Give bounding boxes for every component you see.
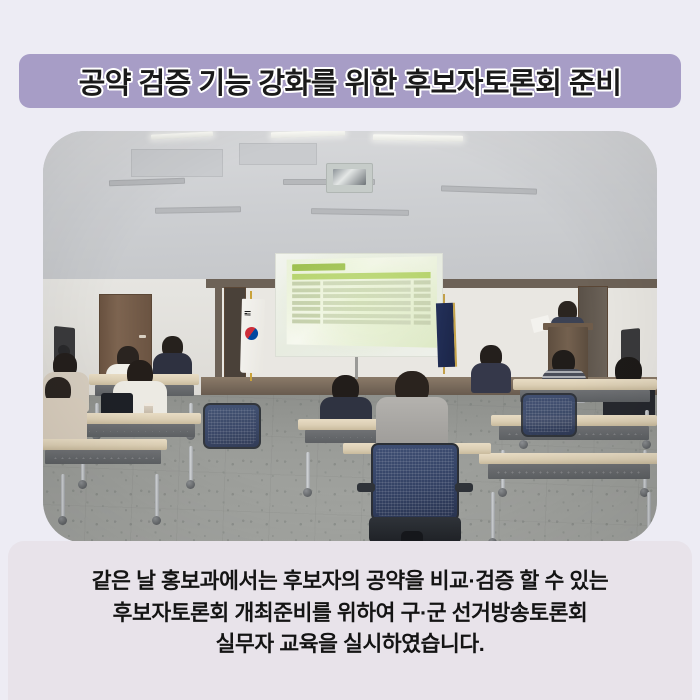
- desk-caster: [58, 516, 67, 525]
- slide-cell: [292, 319, 320, 323]
- chair-armrest: [357, 483, 375, 492]
- desk-modesty-panel: [45, 450, 160, 464]
- attendee-torso: [471, 363, 511, 393]
- office-chair-back: [371, 443, 459, 521]
- desk-leg: [306, 452, 310, 490]
- desk-leg: [61, 474, 65, 518]
- desk-caster: [78, 480, 87, 489]
- slide-table-row: [292, 294, 430, 298]
- slide-table-row: [292, 300, 430, 304]
- desk-top: [73, 413, 201, 424]
- slide-table-row: [292, 319, 430, 324]
- title-banner: 공약 검증 기능 강화를 위한 후보자토론회 준비: [19, 54, 681, 108]
- ceiling-panel: [239, 143, 317, 165]
- slide-cell: [292, 294, 320, 298]
- institution-flag-icon: [436, 303, 457, 368]
- desk-caster: [152, 516, 161, 525]
- chair-mesh: [376, 448, 454, 516]
- slide-cell: [292, 281, 320, 285]
- desk-leg: [647, 492, 651, 540]
- photo-scene: [43, 131, 657, 543]
- slide-cell: [323, 320, 411, 325]
- office-chair-back: [521, 393, 577, 437]
- desk-leg: [189, 446, 193, 482]
- desk-leg: [491, 492, 495, 540]
- slide-table-row: [292, 307, 430, 311]
- desk: [43, 439, 167, 475]
- slide-cell: [292, 313, 320, 317]
- slide-cell: [414, 280, 431, 284]
- office-chair-back: [203, 403, 261, 449]
- desk-modesty-panel: [79, 424, 194, 437]
- slide-cell: [323, 287, 411, 292]
- desk-caster: [303, 488, 312, 497]
- caption-line-2: 후보자토론회 개최준비를 위하여 구·군 선거방송토론회: [113, 598, 588, 630]
- slide-cell: [414, 287, 431, 291]
- desk-top: [43, 439, 167, 450]
- slide-table-row: [292, 313, 430, 318]
- screen-stand: [355, 357, 358, 379]
- desk: [479, 453, 657, 493]
- caption-line-3: 실무자 교육을 실시하였습니다.: [216, 629, 485, 661]
- slide-cell: [414, 307, 431, 311]
- classroom-photo: [43, 131, 657, 543]
- slide-cell: [292, 301, 320, 305]
- slide-cell: [323, 313, 411, 318]
- slide-table-row: [292, 280, 430, 285]
- slide-cell: [414, 294, 431, 298]
- desk-top: [479, 453, 657, 464]
- caption-line-1: 같은 날 홍보과에서는 후보자의 공약을 비교·검증 할 수 있는: [92, 566, 608, 598]
- desk-caster: [186, 480, 195, 489]
- slide-cell: [414, 300, 431, 304]
- caption-panel: 같은 날 홍보과에서는 후보자의 공약을 비교·검증 할 수 있는 후보자토론회…: [8, 541, 692, 700]
- slide-cell: [414, 314, 431, 318]
- slide-cell: [323, 307, 411, 311]
- slide-table-row: [292, 287, 430, 292]
- slide-table-header: [292, 272, 430, 280]
- slide-cell: [292, 307, 320, 311]
- slide-title-bar: [292, 263, 345, 271]
- slide-cell: [323, 294, 411, 298]
- korean-flag-icon: [240, 299, 265, 374]
- page-title: 공약 검증 기능 강화를 위한 후보자토론회 준비: [79, 60, 622, 102]
- presentation-slide: [287, 256, 437, 347]
- slide-cell: [292, 288, 320, 292]
- slide-cell: [323, 280, 411, 285]
- ceiling-projector: [326, 163, 373, 193]
- desk-leg: [155, 474, 159, 518]
- desk-modesty-panel: [488, 464, 650, 479]
- chair-armrest: [455, 483, 473, 492]
- slide-cell: [323, 300, 411, 304]
- slide-cell: [414, 320, 431, 324]
- chair-mesh: [526, 398, 572, 432]
- chair-mesh: [208, 408, 256, 444]
- ceiling-panel: [131, 149, 223, 177]
- desk-top: [513, 379, 657, 390]
